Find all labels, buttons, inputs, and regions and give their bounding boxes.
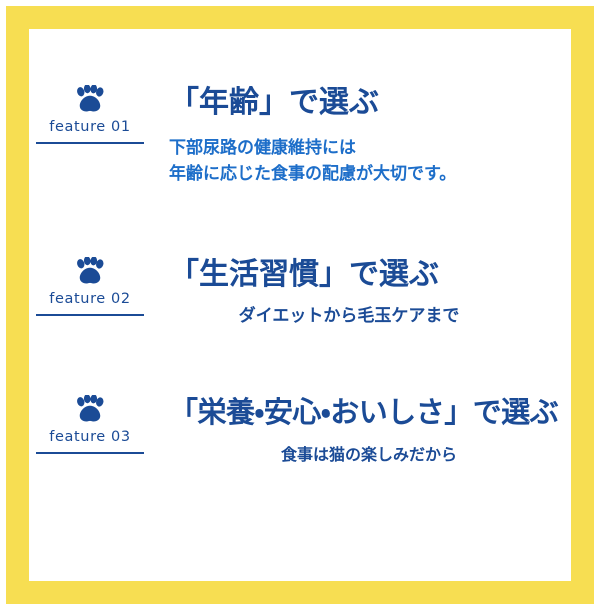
feature-heading-01: 「年齢」で選ぶ (169, 85, 571, 120)
feature-subtext-02: ダイエットから毛玉ケアまで (169, 304, 529, 330)
paw-print-icon (75, 257, 105, 284)
feature-badge-01: feature 01 (29, 85, 151, 144)
feature-text-block-01: 「年齢」で選ぶ 下部尿路の健康維持には 年齢に応じた食事の配慮が大切です。 (169, 85, 571, 187)
feature-label-02: feature 02 (29, 291, 151, 307)
feature-label-01: feature 01 (29, 119, 151, 135)
feature-subtext-01-line-2: 年齢に応じた食事の配慮が大切です。 (169, 162, 571, 188)
feature-badge-02: feature 02 (29, 257, 151, 316)
paw-print-icon (75, 395, 105, 422)
feature-underline-03 (36, 452, 144, 454)
feature-badge-03: feature 03 (29, 395, 151, 454)
feature-heading-03: 「栄養・安心・おいしさ」で選ぶ (169, 395, 571, 429)
feature-text-block-03: 「栄養・安心・おいしさ」で選ぶ 食事は猫の楽しみだから (169, 395, 571, 467)
paw-print-icon (75, 85, 105, 112)
feature-subtext-01: 下部尿路の健康維持には 年齢に応じた食事の配慮が大切です。 (169, 136, 571, 187)
feature-subtext-01-line-1: 下部尿路の健康維持には (169, 136, 571, 162)
poster-content: feature 01 「年齢」で選ぶ 下部尿路の健康維持には 年齢に応じた食事の… (29, 29, 571, 581)
feature-underline-02 (36, 314, 144, 316)
feature-text-block-02: 「生活習慣」で選ぶ ダイエットから毛玉ケアまで (169, 257, 571, 330)
feature-subtext-03: 食事は猫の楽しみだから (169, 443, 569, 467)
feature-poster: feature 01 「年齢」で選ぶ 下部尿路の健康維持には 年齢に応じた食事の… (0, 0, 600, 610)
feature-underline-01 (36, 142, 144, 144)
feature-label-03: feature 03 (29, 429, 151, 445)
feature-heading-02: 「生活習慣」で選ぶ (169, 257, 571, 292)
